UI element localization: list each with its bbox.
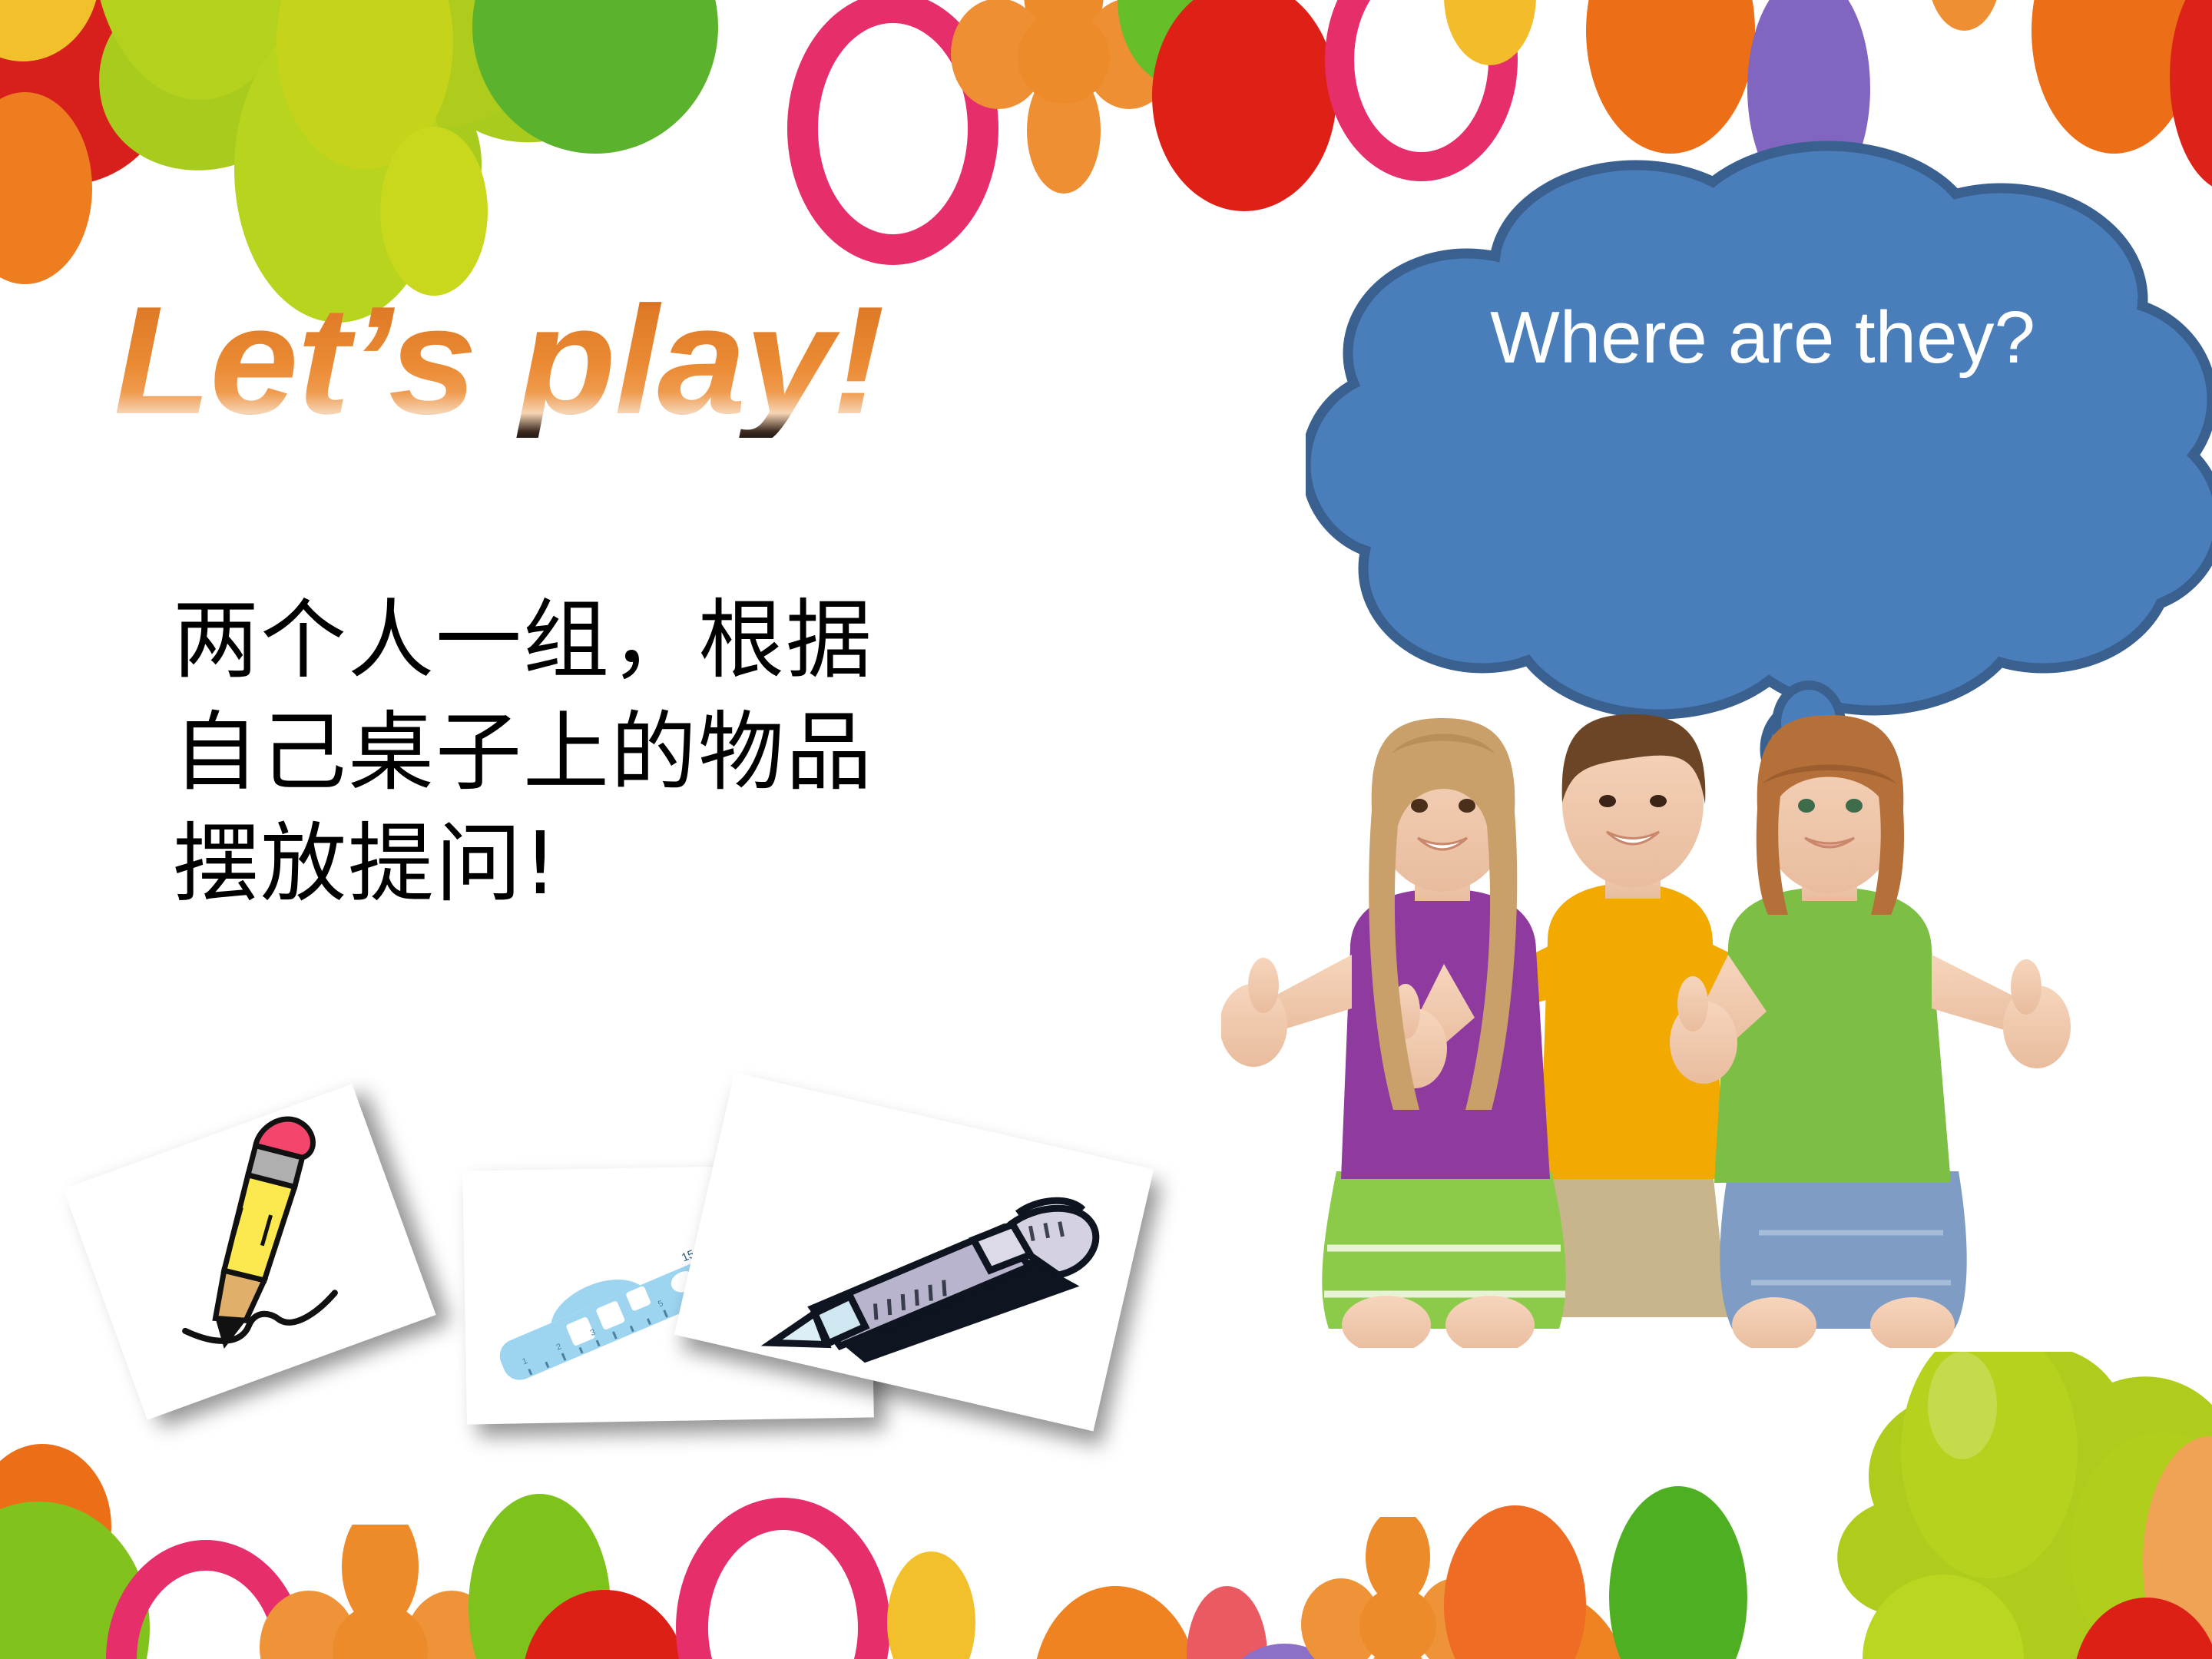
decor-lime-oval-2 (380, 127, 488, 296)
decor-green-oval-bottom-1 (469, 1494, 611, 1659)
decor-orange-blip-top (1928, 0, 2001, 31)
decor-orange-oval-bl (0, 1444, 111, 1609)
decor-orange-oval-bottom-1 (1033, 1586, 1198, 1659)
decor-green-circle-1 (472, 0, 718, 154)
kid-right (1670, 715, 2071, 1348)
pencil-icon (63, 1084, 435, 1420)
decor-orange-oval-br (2143, 1436, 2212, 1659)
instruction-line-1: 两个人一组，根据 (173, 585, 1141, 697)
slide-canvas: Let’s play! Let’s play! 两个人一组，根据 自己桌子上的物… (0, 0, 2212, 1659)
instruction-line-3: 摆放提问! (173, 809, 1141, 921)
decor-orange-oval-bottom-2 (1452, 1590, 1628, 1659)
decor-red-oval-br (2074, 1598, 2212, 1659)
decor-pink-ring-bottom-2 (676, 1498, 890, 1659)
decor-green-oval-top (1118, 0, 1252, 88)
kid-left (1221, 718, 1566, 1348)
decor-red-oval-tl (0, 0, 184, 184)
decor-green-oval-bottom-2 (1609, 1486, 1747, 1659)
decor-orange-flower-bottom-2 (1298, 1517, 1498, 1659)
decor-pink-ring-top-1 (787, 0, 998, 265)
decor-green-splat-br (1728, 1352, 2212, 1659)
decor-orange-flower-bottom-1 (253, 1525, 507, 1659)
decor-orange-oval-left (0, 92, 92, 284)
decor-pink-oval-bottom (1187, 1586, 1267, 1659)
decor-lime-oval-1 (276, 0, 453, 169)
decor-red-oval-bottom-1 (522, 1590, 687, 1659)
decor-orange-flower-top (945, 0, 1183, 200)
instruction-line-2: 自己桌子上的物品 (173, 697, 1141, 810)
thought-bubble-shape (1306, 134, 2212, 803)
decor-orange-oval-top-2 (2032, 0, 2197, 154)
decor-yellow-oval-tl (0, 0, 100, 61)
instruction-text: 两个人一组，根据 自己桌子上的物品 摆放提问! (173, 585, 1141, 921)
thought-bubble (1306, 134, 2212, 803)
decor-orange-oval-top-1 (1586, 0, 1755, 154)
kids-photo (1221, 710, 2081, 1348)
thumbs-up-left-outer (1221, 958, 1287, 1067)
thought-bubble-text: Where are they? (1379, 296, 2147, 380)
decor-orange-oval-bottom-3 (1444, 1505, 1586, 1659)
object-card-pencil (63, 1084, 435, 1420)
decor-yellow-oval-bottom (887, 1551, 975, 1659)
decor-pink-ring-bottom-1 (106, 1540, 306, 1659)
thumbs-up-right-outer (2003, 959, 2071, 1068)
kids-illustration (1221, 710, 2081, 1348)
page-title: Let’s play! (114, 284, 883, 438)
decor-yellow-oval-top (1444, 0, 1536, 65)
decor-purple-oval-bottom (1225, 1644, 1344, 1659)
decor-green-splat-tl (0, 0, 707, 323)
decor-green-oval-bl (0, 1502, 150, 1659)
